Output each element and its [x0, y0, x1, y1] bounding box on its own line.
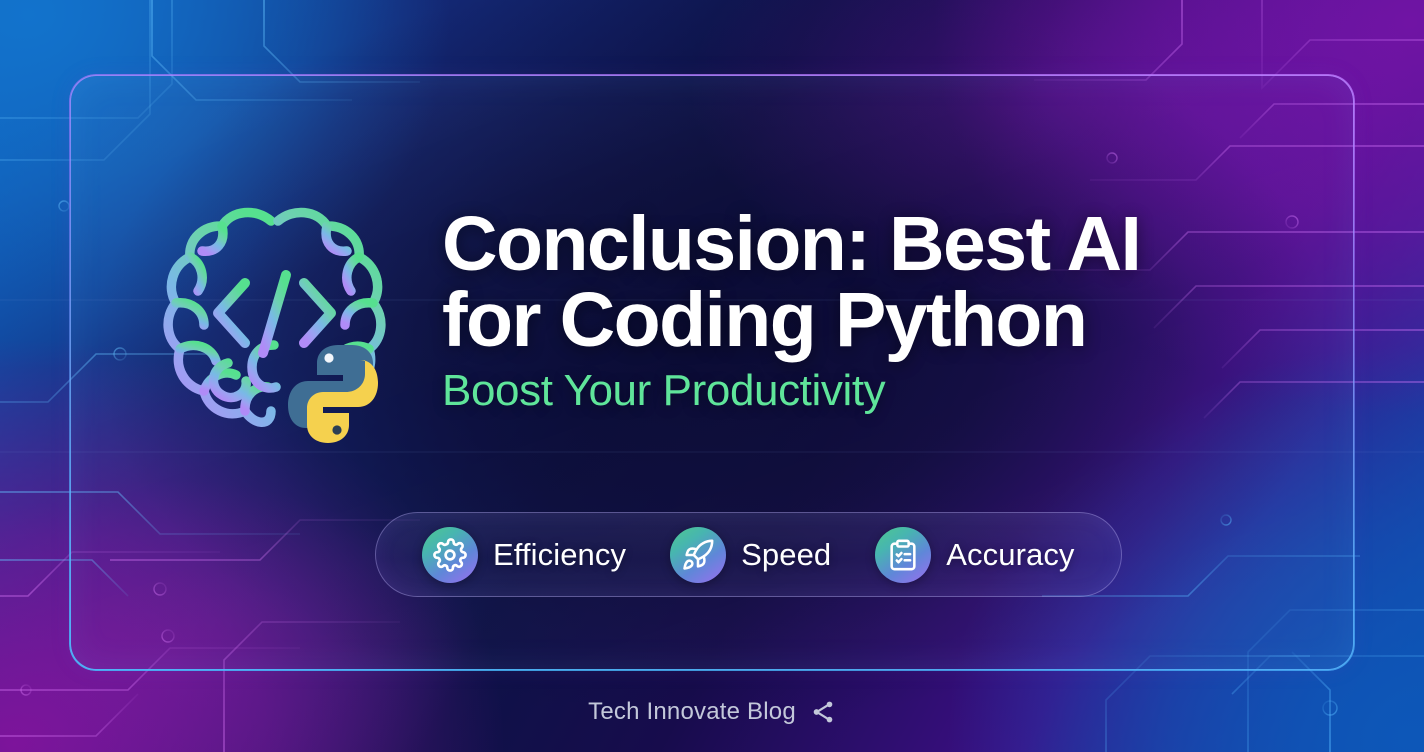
feature-badge-bar: Efficiency Speed [375, 512, 1122, 597]
slide-canvas: Conclusion: Best AI for Coding Python Bo… [0, 0, 1424, 752]
heading-block: Conclusion: Best AI for Coding Python Bo… [442, 120, 1152, 415]
page-title: Conclusion: Best AI for Coding Python [442, 206, 1152, 358]
feature-label-accuracy: Accuracy [946, 537, 1074, 573]
brain-code-python-logo-icon [152, 195, 398, 447]
rocket-icon [670, 527, 726, 583]
feature-label-efficiency: Efficiency [493, 537, 626, 573]
feature-item-efficiency[interactable]: Efficiency [400, 527, 648, 583]
brand-name: Tech Innovate Blog [588, 698, 796, 726]
footer-bar: Tech Innovate Blog [0, 698, 1424, 726]
feature-item-speed[interactable]: Speed [648, 527, 853, 583]
page-subtitle: Boost Your Productivity [442, 368, 1152, 414]
hero-section: Conclusion: Best AI for Coding Python Bo… [152, 120, 1152, 447]
gear-icon [422, 527, 478, 583]
python-logo-icon [288, 345, 378, 443]
feature-item-accuracy[interactable]: Accuracy [853, 527, 1096, 583]
feature-label-speed: Speed [741, 537, 831, 573]
share-icon[interactable] [810, 699, 836, 725]
clipboard-check-icon [875, 527, 931, 583]
